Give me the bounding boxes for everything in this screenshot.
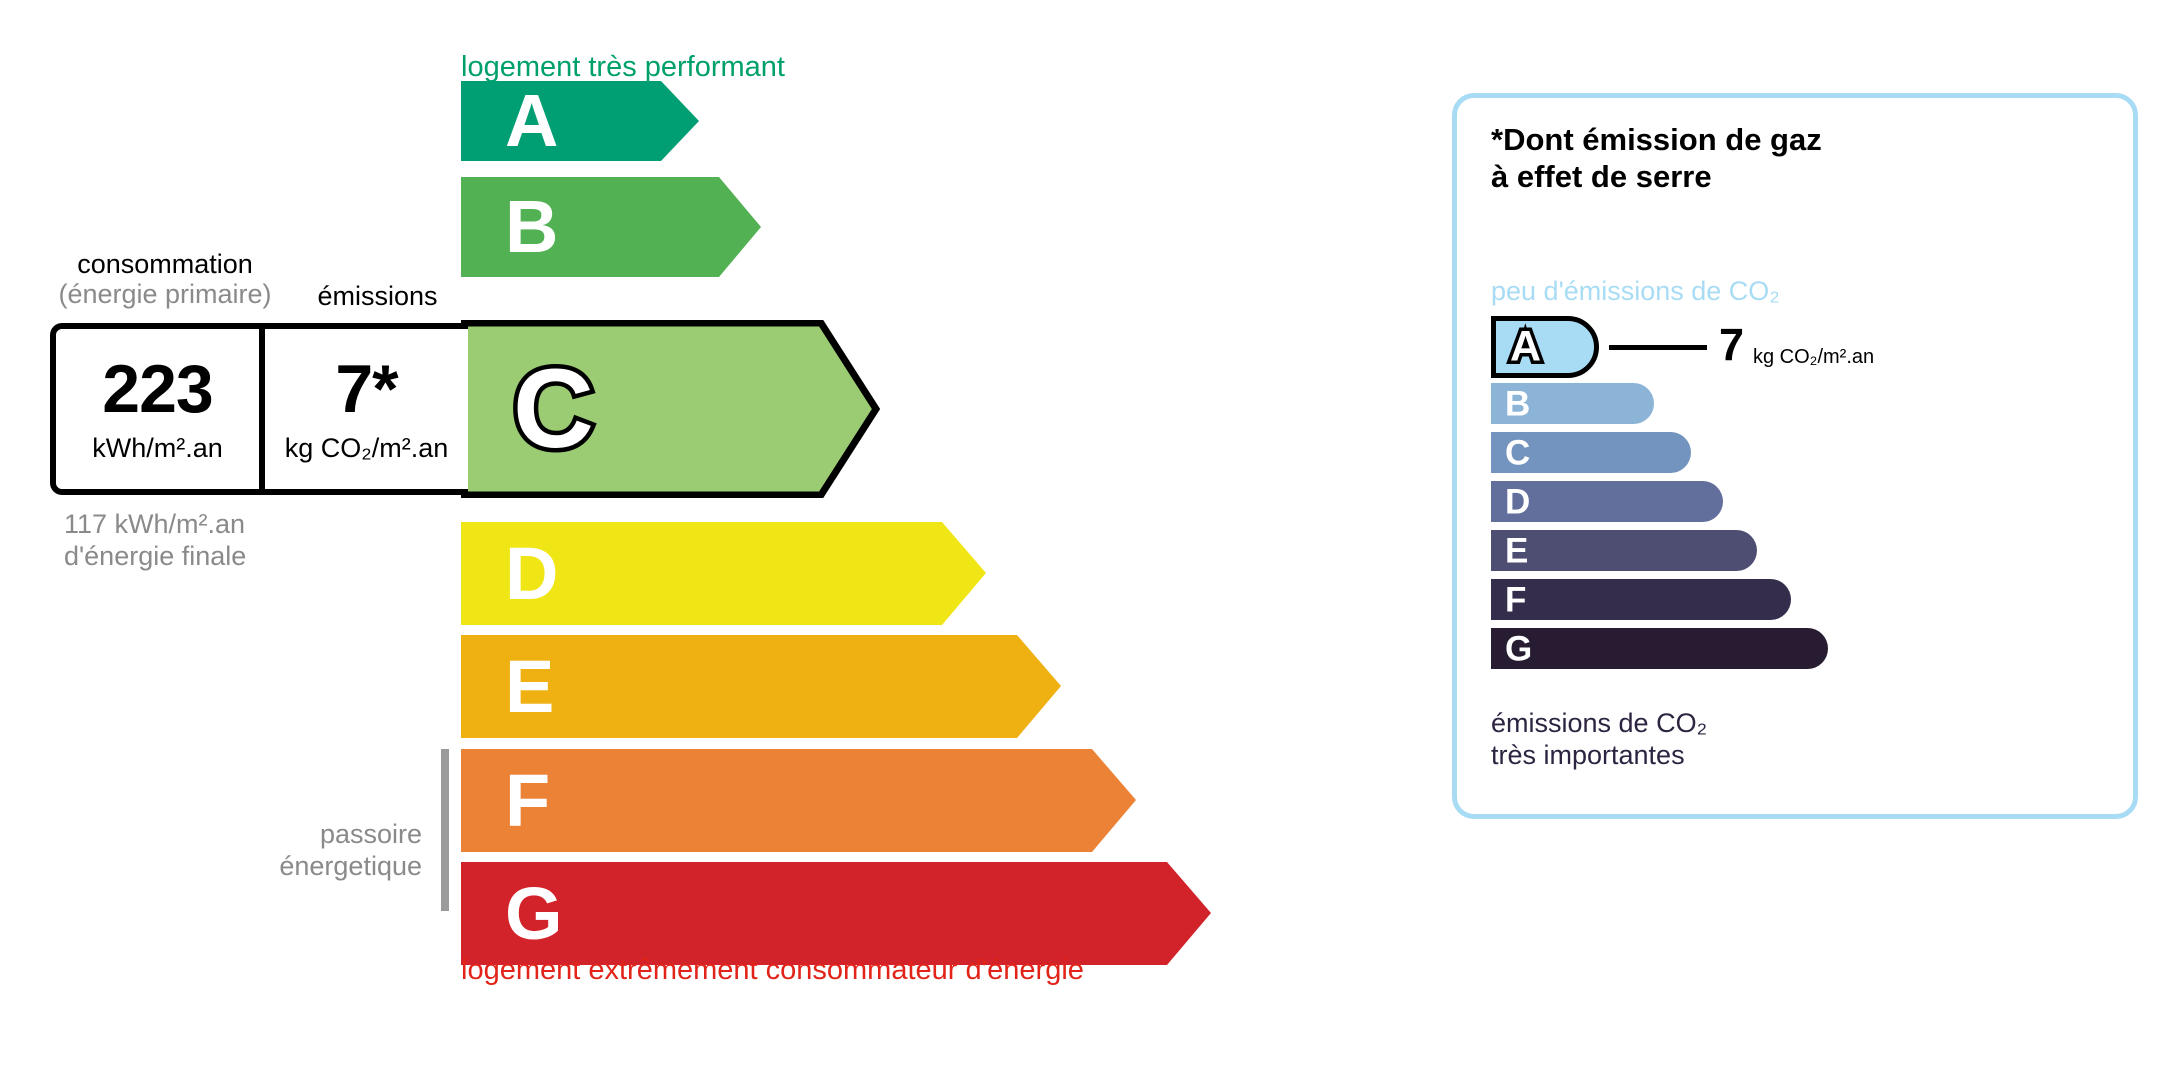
- emissions-value: 7*: [335, 355, 397, 423]
- values-box: 223 kWh/m².an 7* kg CO₂/m².an: [50, 323, 468, 495]
- co2-bar-a-letter: A: [1510, 326, 1541, 369]
- final-energy-line1: 117 kWh/m².an: [64, 508, 246, 540]
- band-g-arrow-shape: [461, 862, 1211, 965]
- co2-value: 7: [1719, 322, 1744, 367]
- final-energy-note: 117 kWh/m².an d'énergie finale: [64, 508, 246, 573]
- co2-bar-a-shape: A A: [1491, 316, 1599, 378]
- co2-bar-b-letter: B: [1505, 386, 1530, 421]
- energy-band-a-letter: A: [505, 84, 558, 158]
- consumption-value-cell: 223 kWh/m².an: [56, 329, 259, 489]
- co2-bar-e: E: [1491, 530, 1757, 571]
- energy-band-c-selected: C C: [461, 320, 881, 498]
- emissions-value-cell: 7* kg CO₂/m².an: [259, 329, 468, 489]
- energy-band-c-letter: C: [513, 353, 594, 465]
- co2-bar-c-letter: C: [1505, 435, 1530, 470]
- co2-bar-d: D: [1491, 481, 1723, 522]
- emissions-unit: kg CO₂/m².an: [285, 433, 449, 464]
- co2-leader-line: [1609, 345, 1707, 350]
- emissions-header: émissions: [290, 281, 465, 311]
- energy-band-f: F: [461, 749, 1136, 852]
- energy-band-d-letter: D: [505, 537, 558, 611]
- co2-bar-a-selected: A A: [1491, 316, 1599, 378]
- passoire-label: passoire énergetique: [200, 818, 422, 883]
- co2-panel-title-line1: *Dont émission de gaz: [1491, 122, 1822, 159]
- band-a-arrow-shape: [461, 81, 699, 161]
- consumption-unit: kWh/m².an: [92, 433, 223, 464]
- consumption-header-line1: consommation: [77, 249, 253, 279]
- co2-bar-g-letter: G: [1505, 631, 1532, 666]
- energy-scale-bottom-label: logement extrêmement consommateur d'éner…: [461, 955, 1084, 987]
- consumption-value: 223: [102, 355, 212, 423]
- consumption-header-line2: (énergie primaire): [55, 279, 275, 309]
- co2-bar-c: C: [1491, 432, 1691, 473]
- band-f-arrow-shape: [461, 749, 1136, 852]
- energy-scale: logement très performant A B C C: [0, 0, 1400, 1079]
- energy-band-g: G: [461, 862, 1211, 965]
- co2-bottom-label: émissions de CO₂ très importantes: [1491, 707, 1707, 772]
- co2-bar-f: F: [1491, 579, 1791, 620]
- co2-bar-e-letter: E: [1505, 533, 1528, 568]
- co2-bottom-label-line1: émissions de CO₂: [1491, 707, 1707, 739]
- passoire-label-line2: énergetique: [200, 850, 422, 882]
- energy-band-g-letter: G: [505, 877, 563, 951]
- passoire-label-line1: passoire: [200, 818, 422, 850]
- energy-band-f-letter: F: [505, 764, 550, 838]
- passoire-bracket: [441, 749, 449, 911]
- co2-bar-c-shape: C: [1491, 432, 1691, 473]
- co2-panel-title-line2: à effet de serre: [1491, 159, 1822, 196]
- energy-band-b-letter: B: [505, 190, 558, 264]
- consumption-header: consommation (énergie primaire): [55, 249, 275, 309]
- co2-bottom-label-line2: très importantes: [1491, 739, 1707, 771]
- co2-bar-b: B: [1491, 383, 1654, 424]
- co2-bar-e-shape: E: [1491, 530, 1757, 571]
- co2-bar-f-letter: F: [1505, 582, 1526, 617]
- co2-bar-g: G: [1491, 628, 1828, 669]
- co2-panel-title: *Dont émission de gaz à effet de serre: [1491, 122, 1822, 195]
- co2-value-unit: kg CO₂/m².an: [1753, 347, 1874, 367]
- energy-band-d: D: [461, 522, 986, 625]
- energy-band-e-letter: E: [505, 650, 554, 724]
- co2-panel: *Dont émission de gaz à effet de serre p…: [1452, 93, 2138, 819]
- energy-band-a: A: [461, 81, 699, 161]
- co2-top-label: peu d'émissions de CO₂: [1491, 276, 1780, 307]
- co2-bar-b-shape: B: [1491, 383, 1654, 424]
- co2-bar-f-shape: F: [1491, 579, 1791, 620]
- final-energy-line2: d'énergie finale: [64, 540, 246, 572]
- co2-bar-d-shape: D: [1491, 481, 1723, 522]
- energy-band-e: E: [461, 635, 1061, 738]
- dpe-diagram: logement très performant A B C C: [0, 0, 2169, 1079]
- co2-bar-d-letter: D: [1505, 484, 1530, 519]
- co2-bar-g-shape: G: [1491, 628, 1828, 669]
- energy-band-b: B: [461, 177, 761, 277]
